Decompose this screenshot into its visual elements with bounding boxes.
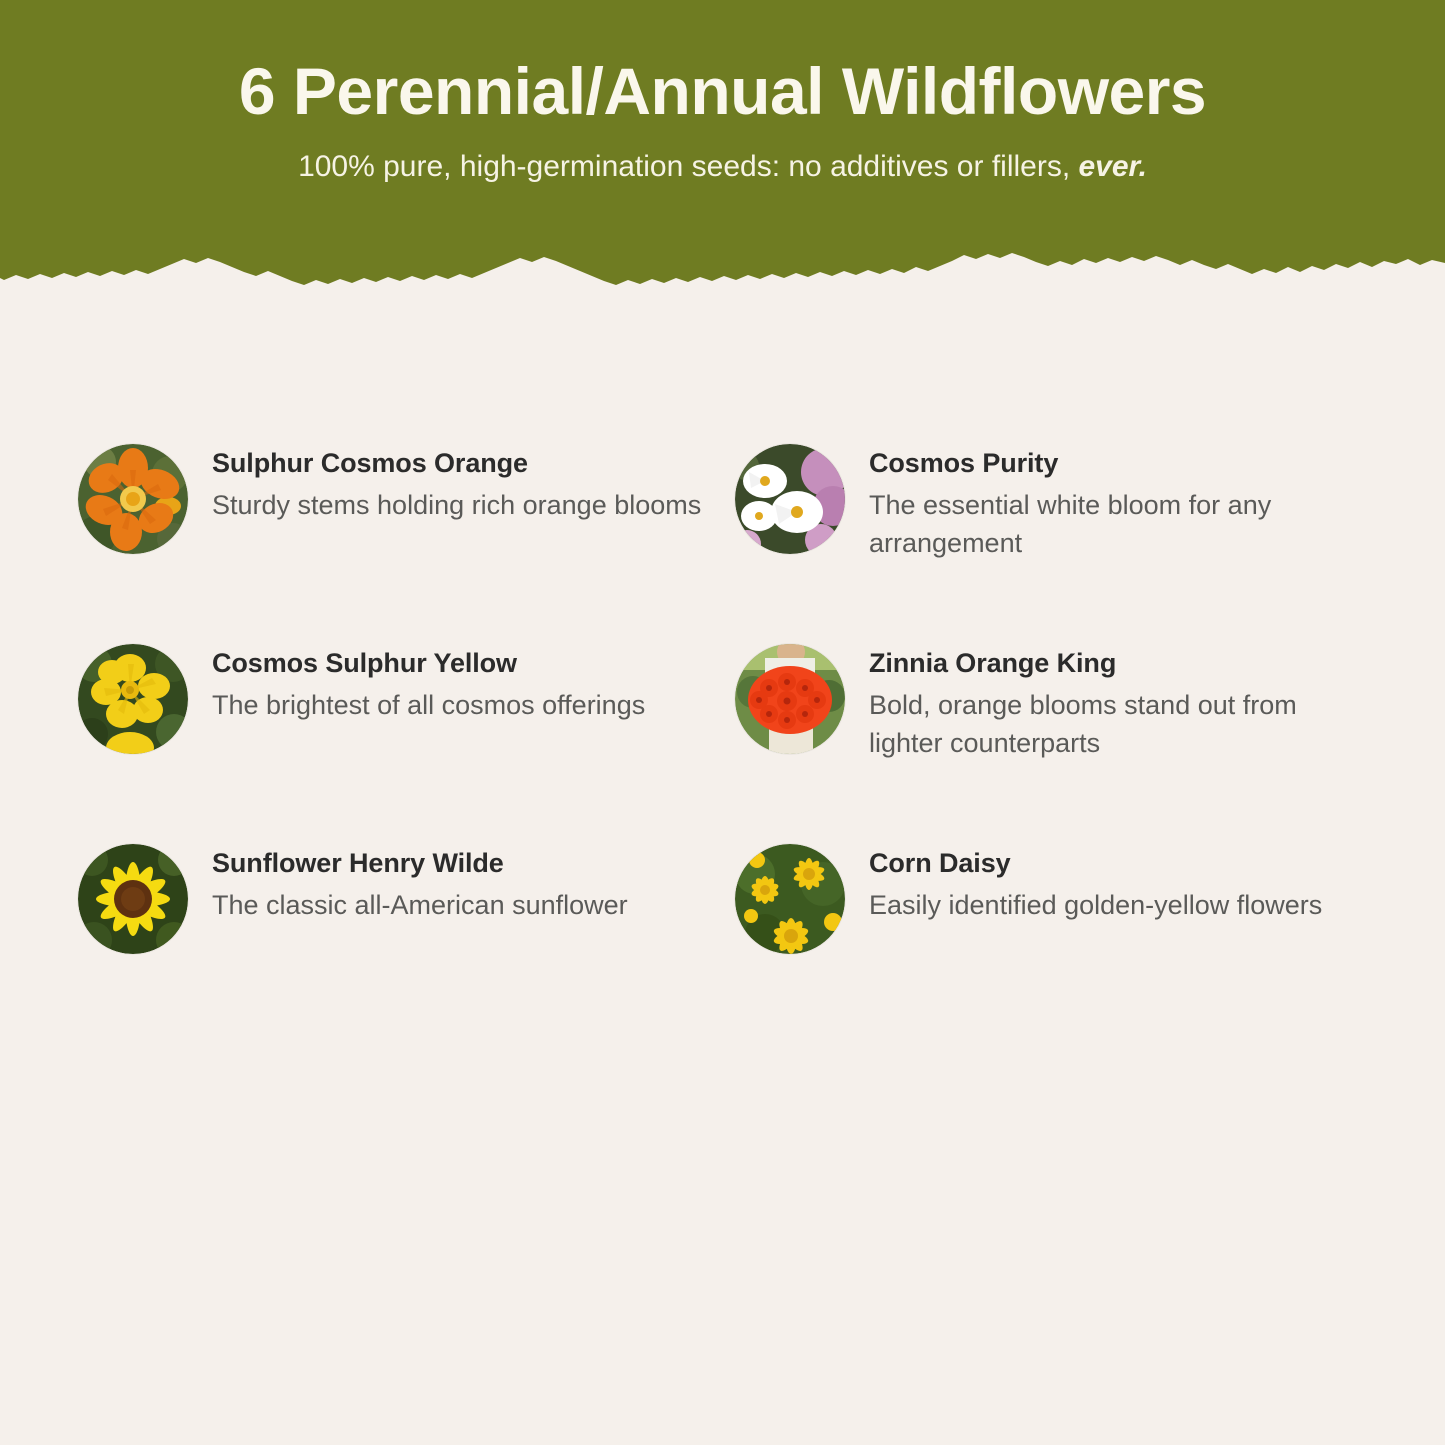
flower-description: Easily identified golden-yellow flowers [869,881,1322,924]
corn-daisy-thumbnail [735,844,845,954]
flower-name: Sunflower Henry Wilde [212,846,628,881]
flower-description: The essential white bloom for any arrang… [869,481,1373,563]
flower-text-block: Cosmos Purity The essential white bloom … [869,430,1373,562]
flower-name: Sulphur Cosmos Orange [212,446,701,481]
flower-photo-icon [735,844,845,954]
list-item: Zinnia Orange King Bold, orange blooms s… [735,630,1373,830]
flower-text-block: Zinnia Orange King Bold, orange blooms s… [869,630,1373,762]
flower-text-block: Sunflower Henry Wilde The classic all-Am… [212,830,628,924]
list-item: Sulphur Cosmos Orange Sturdy stems holdi… [78,430,735,630]
flower-name: Cosmos Purity [869,446,1373,481]
cosmos-purity-thumbnail [735,444,845,554]
flower-name: Corn Daisy [869,846,1322,881]
flower-list: Sulphur Cosmos Orange Sturdy stems holdi… [0,430,1445,1030]
sunflower-henry-wilde-thumbnail [78,844,188,954]
list-item: Sunflower Henry Wilde The classic all-Am… [78,830,735,1030]
flower-photo-icon [735,444,845,554]
flower-name: Cosmos Sulphur Yellow [212,646,645,681]
sulphur-cosmos-orange-thumbnail [78,444,188,554]
cosmos-sulphur-yellow-thumbnail [78,644,188,754]
flower-text-block: Corn Daisy Easily identified golden-yell… [869,830,1322,924]
flower-photo-icon [78,844,188,954]
flower-photo-icon [735,644,845,754]
flower-text-block: Sulphur Cosmos Orange Sturdy stems holdi… [212,430,701,524]
page-subtitle: 100% pure, high-germination seeds: no ad… [0,127,1445,185]
page-subtitle-emphasis: ever. [1079,150,1147,183]
flower-name: Zinnia Orange King [869,646,1373,681]
flower-text-block: Cosmos Sulphur Yellow The brightest of a… [212,630,645,724]
torn-paper-edge-icon [0,240,1445,300]
header-banner: 6 Perennial/Annual Wildflowers 100% pure… [0,0,1445,300]
flower-description: Bold, orange blooms stand out from light… [869,681,1373,763]
banner-text-block: 6 Perennial/Annual Wildflowers 100% pure… [0,0,1445,185]
flower-description: The classic all-American sunflower [212,881,628,924]
list-item: Corn Daisy Easily identified golden-yell… [735,830,1373,1030]
page-subtitle-main: 100% pure, high-germination seeds: no ad… [298,150,1078,183]
flower-description: Sturdy stems holding rich orange blooms [212,481,701,524]
flower-description: The brightest of all cosmos offerings [212,681,645,724]
flower-photo-icon [78,644,188,754]
flower-photo-icon [78,444,188,554]
page-title: 6 Perennial/Annual Wildflowers [0,0,1445,127]
zinnia-orange-king-thumbnail [735,644,845,754]
list-item: Cosmos Purity The essential white bloom … [735,430,1373,630]
list-item: Cosmos Sulphur Yellow The brightest of a… [78,630,735,830]
